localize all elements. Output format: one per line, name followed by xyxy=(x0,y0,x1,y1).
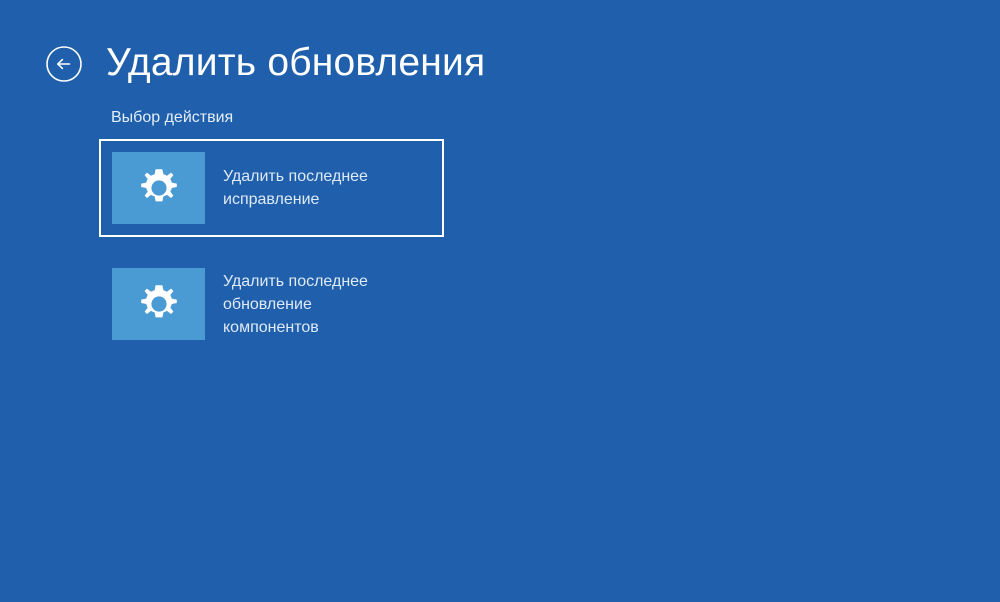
page-title: Удалить обновления xyxy=(106,37,485,89)
option-remove-latest-feature-update[interactable]: Удалить последнее обновление компонентов xyxy=(99,255,444,353)
gear-icon xyxy=(112,152,205,224)
option-label: Удалить последнее обновление компонентов xyxy=(223,270,368,339)
recovery-screen: Удалить обновления Выбор действия Удалит… xyxy=(0,0,1000,602)
back-arrow-circle-icon[interactable] xyxy=(45,45,83,83)
page-subtitle: Выбор действия xyxy=(111,107,233,129)
page-header: Удалить обновления Выбор действия xyxy=(0,0,1000,100)
option-remove-latest-quality-update[interactable]: Удалить последнее исправление xyxy=(99,139,444,237)
gear-icon xyxy=(112,268,205,340)
option-list: Удалить последнее исправление Удалить по… xyxy=(99,139,459,353)
option-label: Удалить последнее исправление xyxy=(223,165,368,211)
